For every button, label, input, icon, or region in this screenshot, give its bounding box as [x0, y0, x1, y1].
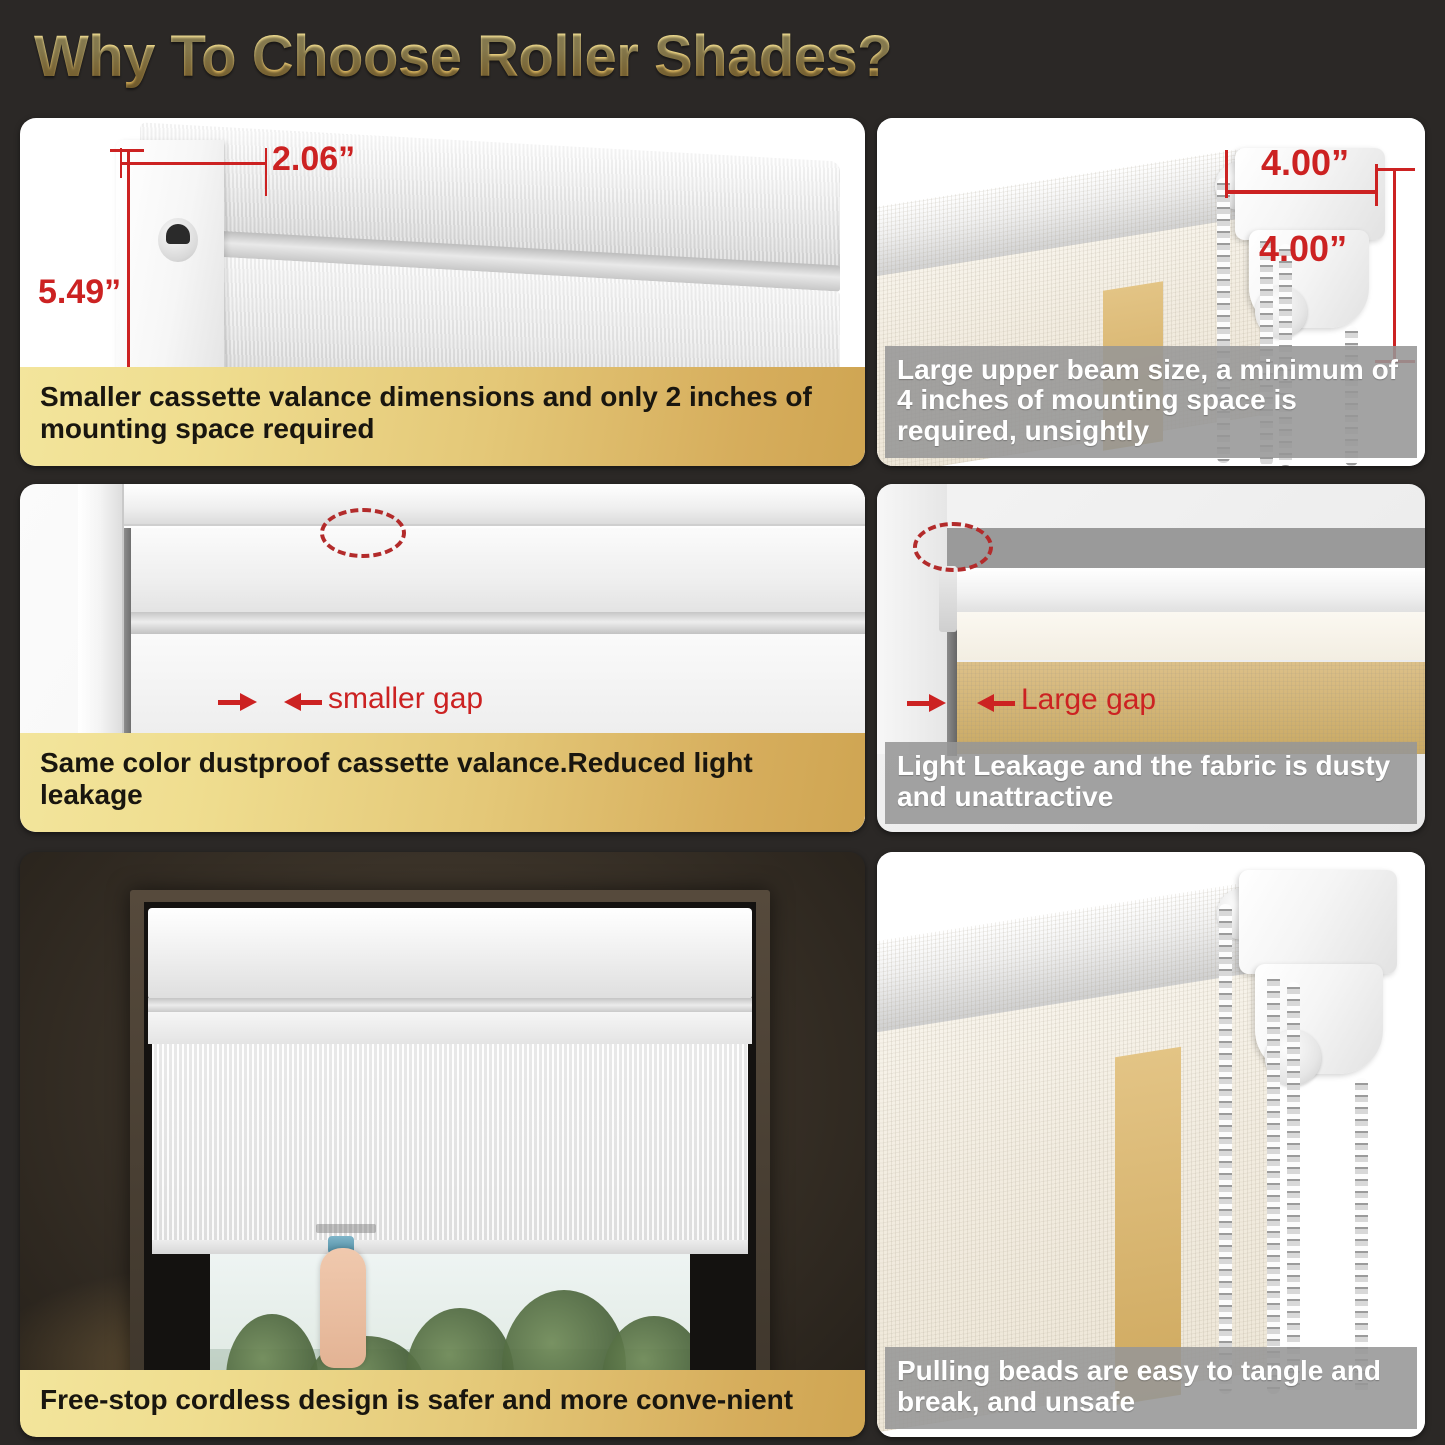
panel-large-upper-beam[interactable]: 4.00” 4.00” Large upper beam size, a min… [877, 118, 1425, 466]
dim-tick-width-right [265, 148, 267, 196]
comparison-grid: 2.06” 5.49” Smaller cassette valance dim… [0, 112, 1445, 1445]
caption-panel-2: Large upper beam size, a minimum of 4 in… [885, 346, 1417, 458]
valance-roller-socket [158, 218, 198, 262]
bead-chain-b [1267, 974, 1280, 1394]
page-title: Why To Choose Roller Shades? [34, 23, 892, 90]
panel-pulling-beads[interactable]: Pulling beads are easy to tangle and bre… [877, 852, 1425, 1437]
caption-panel-6: Pulling beads are easy to tangle and bre… [885, 1347, 1417, 1429]
highlight-ellipse-gap-bad [913, 522, 993, 572]
panel-smaller-cassette[interactable]: 2.06” 5.49” Smaller cassette valance dim… [20, 118, 865, 466]
dim-label-height: 5.49” [38, 273, 121, 312]
caption-panel-4: Light Leakage and the fabric is dusty an… [885, 742, 1417, 824]
bracket-clip [939, 566, 957, 632]
photo-room-window [20, 852, 865, 1437]
dim-tick-beam-height-top [1377, 168, 1415, 171]
caption-panel-5: Free-stop cordless design is safer and m… [20, 1370, 865, 1437]
room-valance-bottom [148, 1012, 752, 1044]
window-frame-top [78, 484, 865, 526]
shade-upper-panel [130, 528, 865, 614]
page-header: Why To Choose Roller Shades? [0, 0, 1445, 112]
dim-label-beam-height: 4.00” [1259, 228, 1347, 270]
panel-cordless-design[interactable]: Free-stop cordless design is safer and m… [20, 852, 865, 1437]
dim-tick-height-top [110, 149, 144, 152]
room-cassette-valance [148, 908, 752, 1000]
dim-label-beam-width: 4.00” [1261, 142, 1349, 184]
dim-line-beam-width [1225, 190, 1377, 194]
label-smaller-gap: smaller gap [328, 682, 483, 716]
highlight-ellipse-gap [320, 508, 406, 558]
hand [320, 1248, 366, 1368]
beads-bracket-upper [1239, 870, 1397, 974]
label-large-gap: Large gap [1021, 683, 1156, 717]
fabric-white-strip [947, 612, 1425, 660]
panel-smaller-gap[interactable]: smaller gap Same color dustproof cassett… [20, 484, 865, 832]
room-shade-bottom-rail [152, 1240, 748, 1254]
panel-large-gap[interactable]: Large gap Light Leakage and the fabric i… [877, 484, 1425, 832]
dim-line-beam-height [1393, 168, 1396, 363]
brand-logo [316, 1224, 376, 1233]
caption-panel-3: Same color dustproof cassette valance.Re… [20, 733, 865, 832]
shade-rail [130, 612, 865, 634]
ceiling-shadow [937, 528, 1425, 572]
dim-line-width [120, 162, 267, 165]
dim-label-width: 2.06” [272, 140, 355, 179]
bead-chain-a [1219, 904, 1232, 1394]
bead-chain-c [1287, 982, 1300, 1394]
caption-panel-1: Smaller cassette valance dimensions and … [20, 367, 865, 466]
room-shade-fabric [152, 1044, 748, 1242]
